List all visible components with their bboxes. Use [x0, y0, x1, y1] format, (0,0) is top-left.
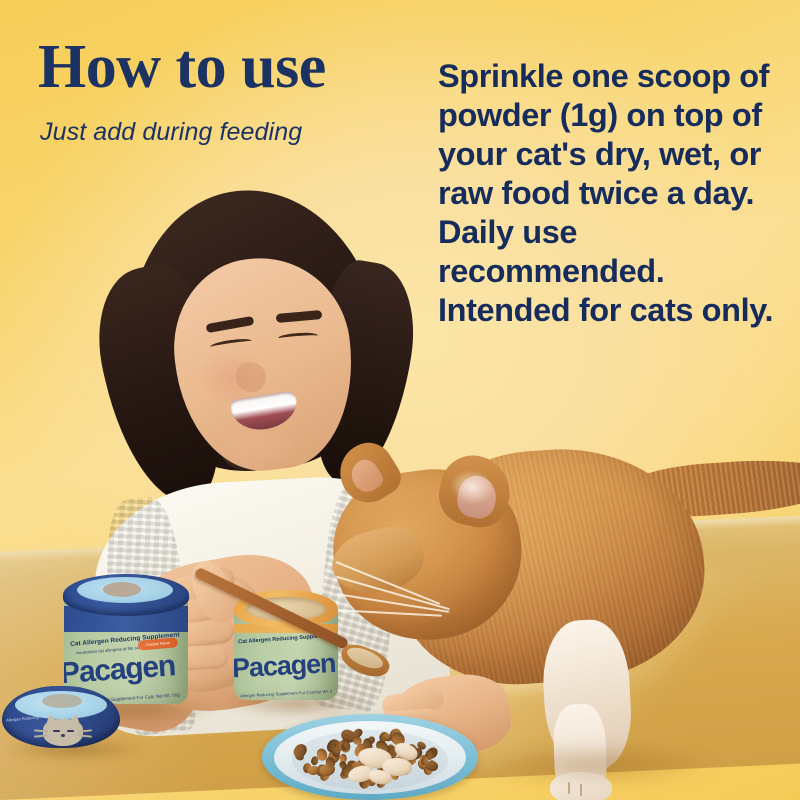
- cat-icon-eye-left: [53, 730, 60, 732]
- jar-footer-right: Net Wt. 60g: [155, 692, 180, 699]
- promo-image: Cat Allergen Reducing Supplement Neutral…: [0, 0, 800, 800]
- jar-brand-name: Pacagen: [234, 647, 338, 685]
- cat-icon-head: [43, 719, 83, 746]
- cat-face-icon: [36, 712, 90, 746]
- jar-footer-right: Net Wt. 60g: [315, 689, 332, 695]
- cat-icon-nose: [61, 734, 65, 737]
- jar-lid-with-cat-illustration[interactable]: Allergen Reducing Supplement For Cats: [2, 686, 120, 748]
- lid-inner-blob: [42, 694, 82, 708]
- cat-icon-whisker: [34, 729, 48, 732]
- jar-lid[interactable]: [63, 574, 189, 616]
- cat-food-bowl[interactable]: [262, 714, 478, 800]
- chin: [222, 430, 296, 474]
- instructions-text: Sprinkle one scoop of powder (1g) on top…: [438, 57, 790, 330]
- cat-shadow: [470, 742, 720, 788]
- page-title: How to use: [38, 36, 326, 98]
- cat-icon-whisker: [78, 729, 92, 732]
- jar-lid-cat-icon: [103, 582, 141, 597]
- cat-icon-eye-right: [67, 730, 74, 732]
- page-subtitle: Just add during feeding: [40, 118, 302, 147]
- jar-footer-left: Allergen Reducing Supplement For Cats: [240, 689, 315, 698]
- jar-footer: Allergen Reducing Supplement For Cats Ne…: [240, 689, 332, 699]
- instructions-paragraph: Sprinkle one scoop of powder (1g) on top…: [438, 57, 790, 330]
